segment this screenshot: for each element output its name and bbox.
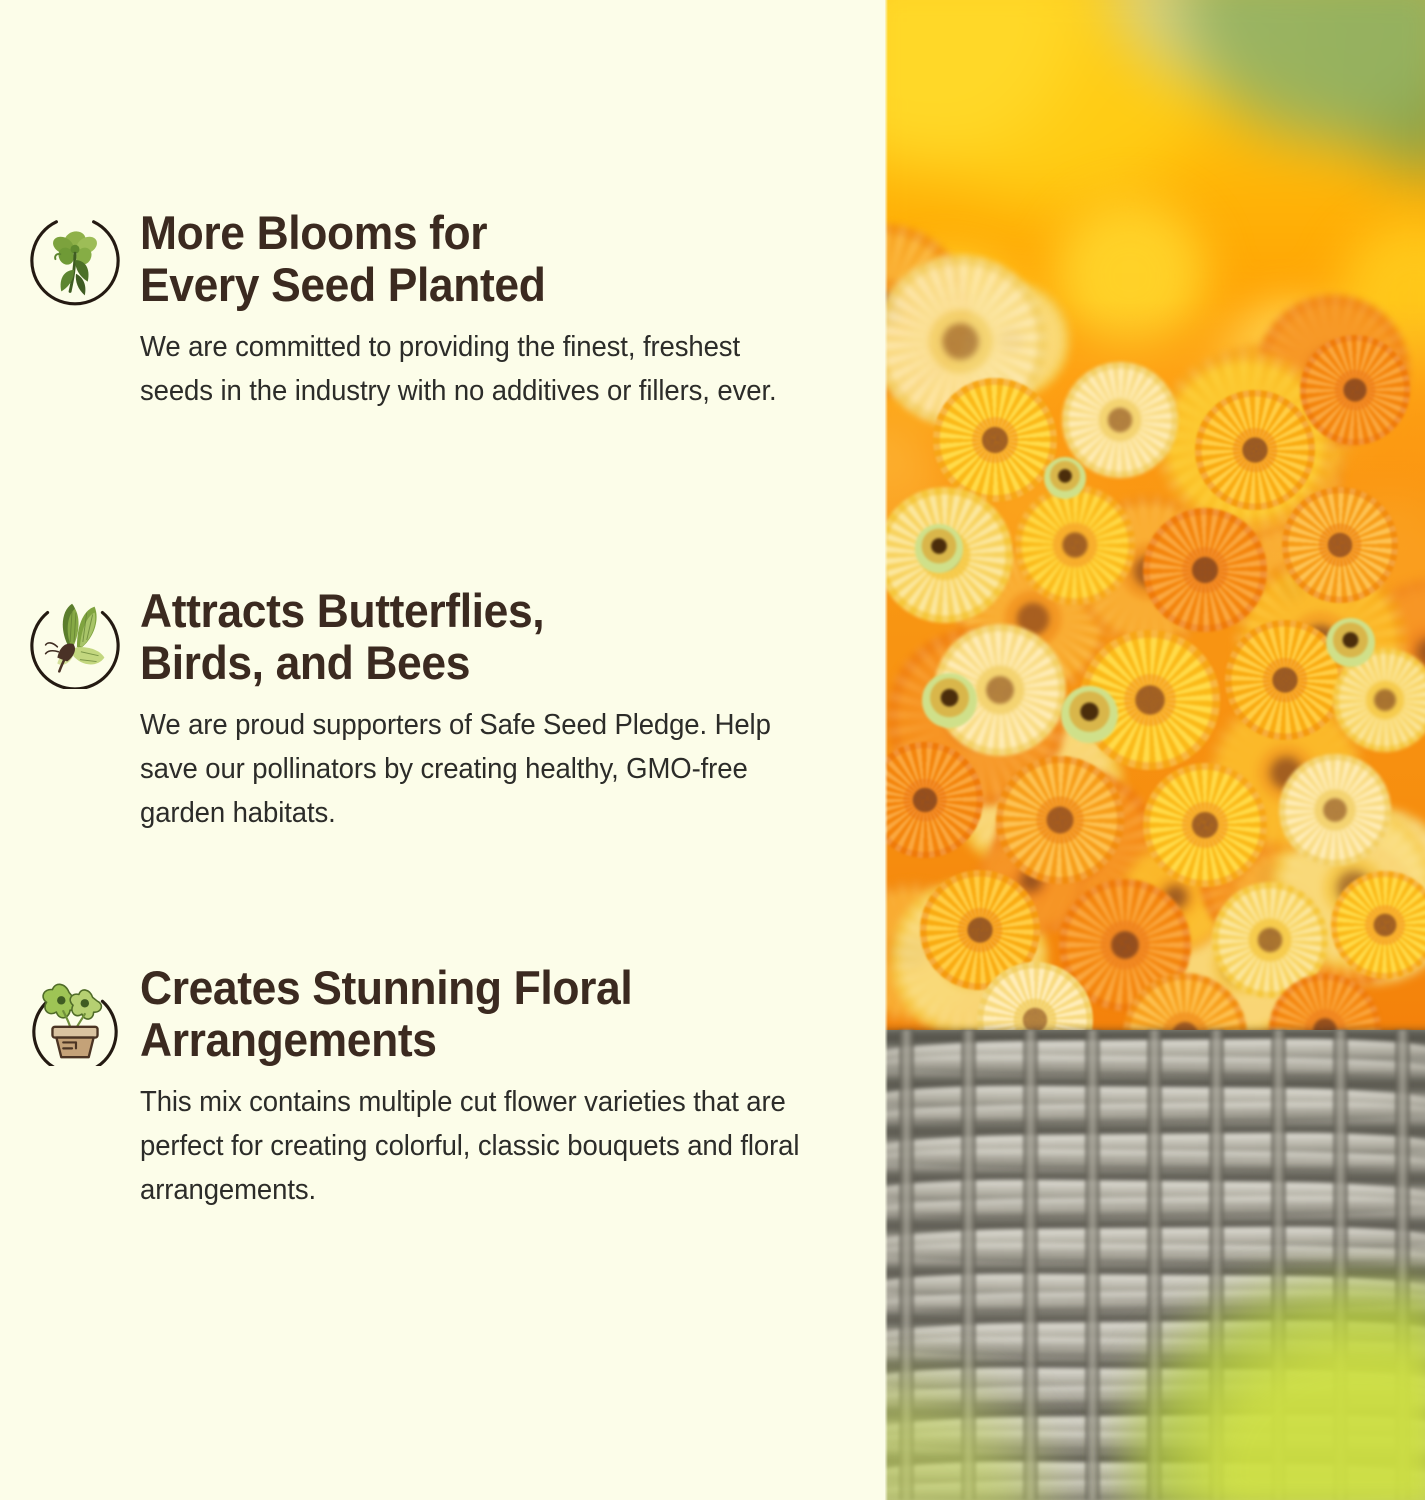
feature-icon-slot: [0, 962, 140, 1066]
petal-texture: [1279, 754, 1391, 866]
petal-texture: [1143, 508, 1267, 632]
flower-bud: [1326, 618, 1375, 667]
calendula-flower-cluster: [885, 300, 1425, 1060]
feature-title: Attracts Butterflies, Birds, and Bees: [140, 585, 821, 690]
butterfly-in-circle-icon: [26, 591, 124, 689]
feature-item-floral-arrangements: Creates Stunning Floral Arrangements Thi…: [0, 962, 885, 1212]
petal-texture: [1015, 485, 1135, 605]
flower-bloom: [1015, 485, 1135, 605]
flower-bloom: [1282, 487, 1398, 603]
flower-bloom: [1195, 390, 1315, 510]
petal-texture: [996, 756, 1124, 884]
green-foliage-blur-left: [885, 1350, 1075, 1500]
feature-title: More Blooms for Every Seed Planted: [140, 207, 821, 312]
petal-texture: [1143, 763, 1267, 887]
flower-bloom: [1143, 508, 1267, 632]
petal-texture: [1282, 487, 1398, 603]
flower-bud: [915, 524, 964, 573]
flower-bloom: [1279, 754, 1391, 866]
feature-text-block: More Blooms for Every Seed Planted We ar…: [140, 207, 885, 413]
green-foliage-blur-right: [1115, 1270, 1425, 1500]
product-feature-panel: More Blooms for Every Seed Planted We ar…: [0, 0, 1425, 1500]
basket-weave-upright: [1085, 1030, 1100, 1500]
petal-texture: [1062, 362, 1178, 478]
flower-bloom: [996, 756, 1124, 884]
feature-text-block: Creates Stunning Floral Arrangements Thi…: [140, 962, 885, 1212]
feature-icon-slot: [0, 585, 140, 689]
flower-bloom: [933, 378, 1057, 502]
petal-texture: [933, 378, 1057, 502]
feature-text-block: Attracts Butterflies, Birds, and Bees We…: [140, 585, 885, 835]
feature-item-more-blooms: More Blooms for Every Seed Planted We ar…: [0, 207, 885, 413]
feature-item-attracts-pollinators: Attracts Butterflies, Birds, and Bees We…: [0, 585, 885, 835]
photo-left-edge: [885, 0, 888, 1500]
flower-bud: [1061, 686, 1118, 743]
flower-in-circle-icon: [26, 213, 124, 311]
petal-texture: [1300, 335, 1410, 445]
flower-bloom: [1300, 335, 1410, 445]
flower-bloom: [1143, 763, 1267, 887]
feature-icon-slot: [0, 207, 140, 311]
product-photo: [885, 0, 1425, 1500]
feature-title: Creates Stunning Floral Arrangements: [140, 962, 821, 1067]
feature-description: This mix contains multiple cut flower va…: [140, 1080, 820, 1212]
flower-bloom: [1062, 362, 1178, 478]
petal-texture: [1195, 390, 1315, 510]
flower-bud: [922, 673, 977, 728]
potted-plant-in-circle-icon: [26, 968, 124, 1066]
feature-description: We are proud supporters of Safe Seed Ple…: [140, 703, 820, 835]
feature-description: We are committed to providing the finest…: [140, 325, 820, 413]
features-column: More Blooms for Every Seed Planted We ar…: [0, 0, 885, 1500]
